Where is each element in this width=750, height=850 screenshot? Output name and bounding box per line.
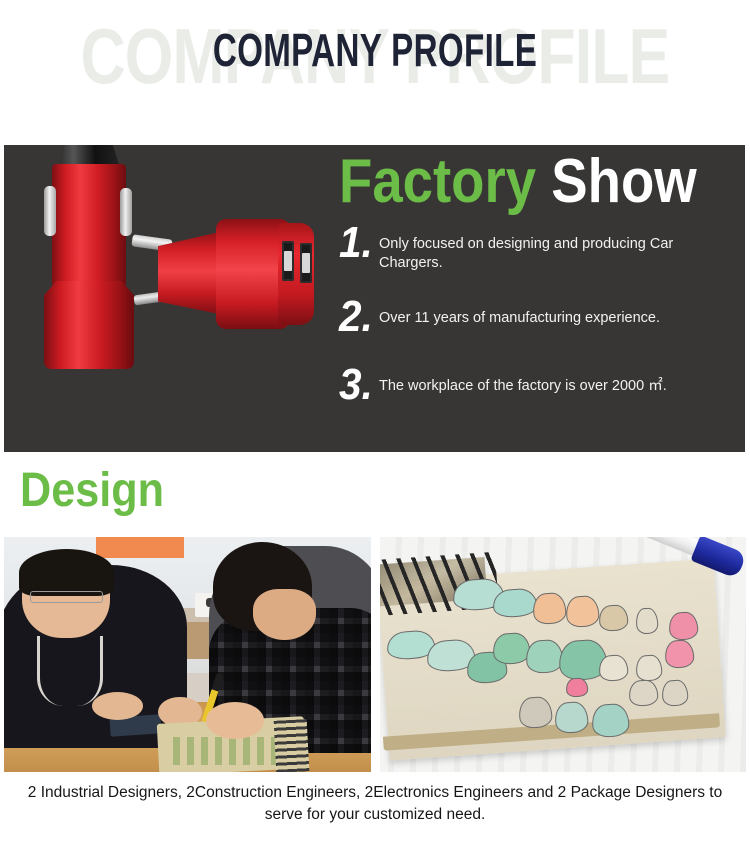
page-header: COMPANY PROFILE COMPANY PROFILE [0, 0, 750, 145]
factory-bullet-3-number: 3. [339, 365, 372, 405]
factory-bullet-1: 1. Only focused on designing and produci… [339, 223, 739, 273]
concept-sketch [492, 632, 531, 665]
usb-port-2 [300, 243, 312, 283]
factory-heading-word-white: Show [551, 147, 696, 216]
factory-show-panel: Factory Show 1. Only focused on designin… [4, 145, 745, 452]
factory-bullet-1-text: Only focused on designing and producing … [375, 223, 739, 273]
photo-person-right-face [253, 589, 315, 641]
concept-sketch [518, 696, 553, 729]
design-caption: 2 Industrial Designers, 2Construction En… [0, 782, 750, 826]
concept-sketch [525, 639, 564, 674]
product-photo-car-charger [4, 145, 324, 452]
concept-sketch [661, 679, 688, 707]
photo-notebook-spiral [274, 719, 310, 772]
factory-bullet-3-text: The workplace of the factory is over 200… [375, 365, 667, 396]
photo-person-right-hand [206, 702, 265, 740]
design-photo-designers [4, 537, 371, 772]
charger-spring-clip-left [44, 186, 56, 236]
car-charger-horizontal [132, 215, 317, 340]
factory-bullet-1-number: 1. [339, 223, 372, 263]
car-charger-vertical [36, 145, 136, 398]
photo-person-left-hair [19, 549, 114, 596]
design-photo-row [4, 537, 746, 772]
charger-spring-clip-right [120, 188, 132, 236]
photo-person-left-lanyard [37, 636, 103, 707]
usb-port-1 [282, 241, 294, 281]
photo-notebook-sketches [173, 737, 283, 765]
design-photo-sketchbook [380, 537, 747, 772]
factory-bullet-2-text: Over 11 years of manufacturing experienc… [375, 297, 660, 328]
factory-bullet-3: 3. The workplace of the factory is over … [339, 365, 667, 405]
design-heading: Design [20, 466, 164, 516]
factory-bullet-2: 2. Over 11 years of manufacturing experi… [339, 297, 660, 337]
page-title: COMPANY PROFILE [213, 24, 537, 76]
photo-orange-panel [96, 537, 184, 558]
factory-text-block: Factory Show 1. Only focused on designin… [339, 145, 739, 452]
charger-base [44, 281, 134, 369]
concept-sketch [591, 703, 630, 738]
factory-show-heading: Factory Show [339, 151, 697, 213]
eyeglasses-icon [30, 591, 103, 603]
charger-body [52, 164, 126, 287]
factory-heading-word-green: Factory [339, 147, 536, 216]
factory-bullet-2-number: 2. [339, 297, 372, 337]
